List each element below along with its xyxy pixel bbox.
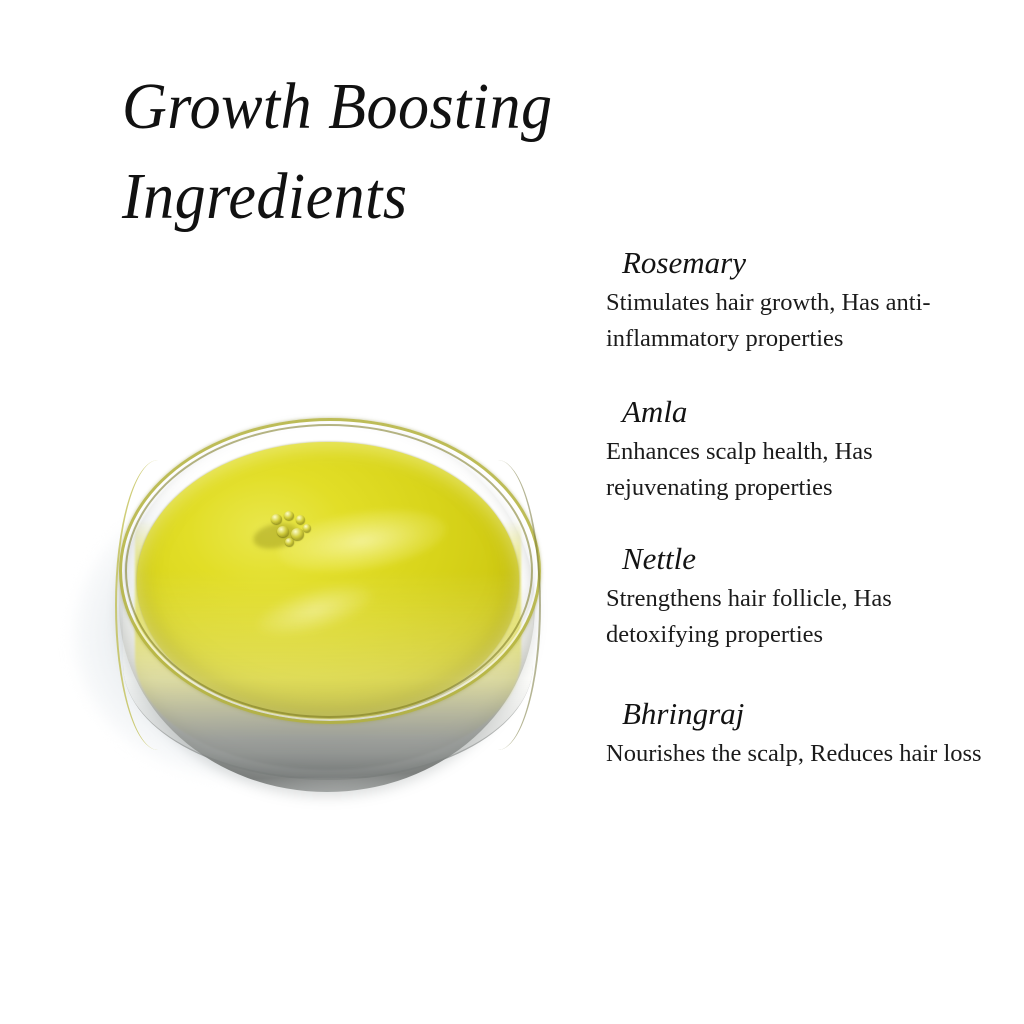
ingredient-item-amla: Amla Enhances scalp health, Has rejuvena…: [606, 393, 998, 506]
ingredient-item-bhringraj: Bhringraj Nourishes the scalp, Reduces h…: [606, 695, 998, 772]
ingredient-description: Stimulates hair growth, Has anti-inflamm…: [606, 285, 988, 357]
ingredient-list: Rosemary Stimulates hair growth, Has ant…: [606, 244, 998, 772]
dish-rim-inner: [125, 424, 533, 718]
ingredient-description: Nourishes the scalp, Reduces hair loss: [606, 736, 988, 772]
page-title-line-1: Growth Boosting: [122, 62, 686, 152]
ingredient-description: Enhances scalp health, Has rejuvenating …: [606, 434, 988, 506]
page-title-line-2: Ingredients: [122, 152, 686, 242]
ingredient-item-rosemary: Rosemary Stimulates hair growth, Has ant…: [606, 244, 998, 357]
ingredient-name: Bhringraj: [622, 695, 998, 733]
ingredient-item-nettle: Nettle Strengthens hair follicle, Has de…: [606, 540, 998, 653]
ingredient-description: Strengthens hair follicle, Has detoxifyi…: [606, 581, 988, 653]
ingredient-name: Nettle: [622, 540, 998, 578]
ingredient-name: Amla: [622, 393, 998, 431]
page-title: Growth Boosting Ingredients: [122, 62, 722, 242]
ingredient-name: Rosemary: [622, 244, 998, 282]
poster-canvas: Growth Boosting Ingredients Rosema: [0, 0, 1024, 1024]
petri-dish-image: [55, 400, 575, 830]
